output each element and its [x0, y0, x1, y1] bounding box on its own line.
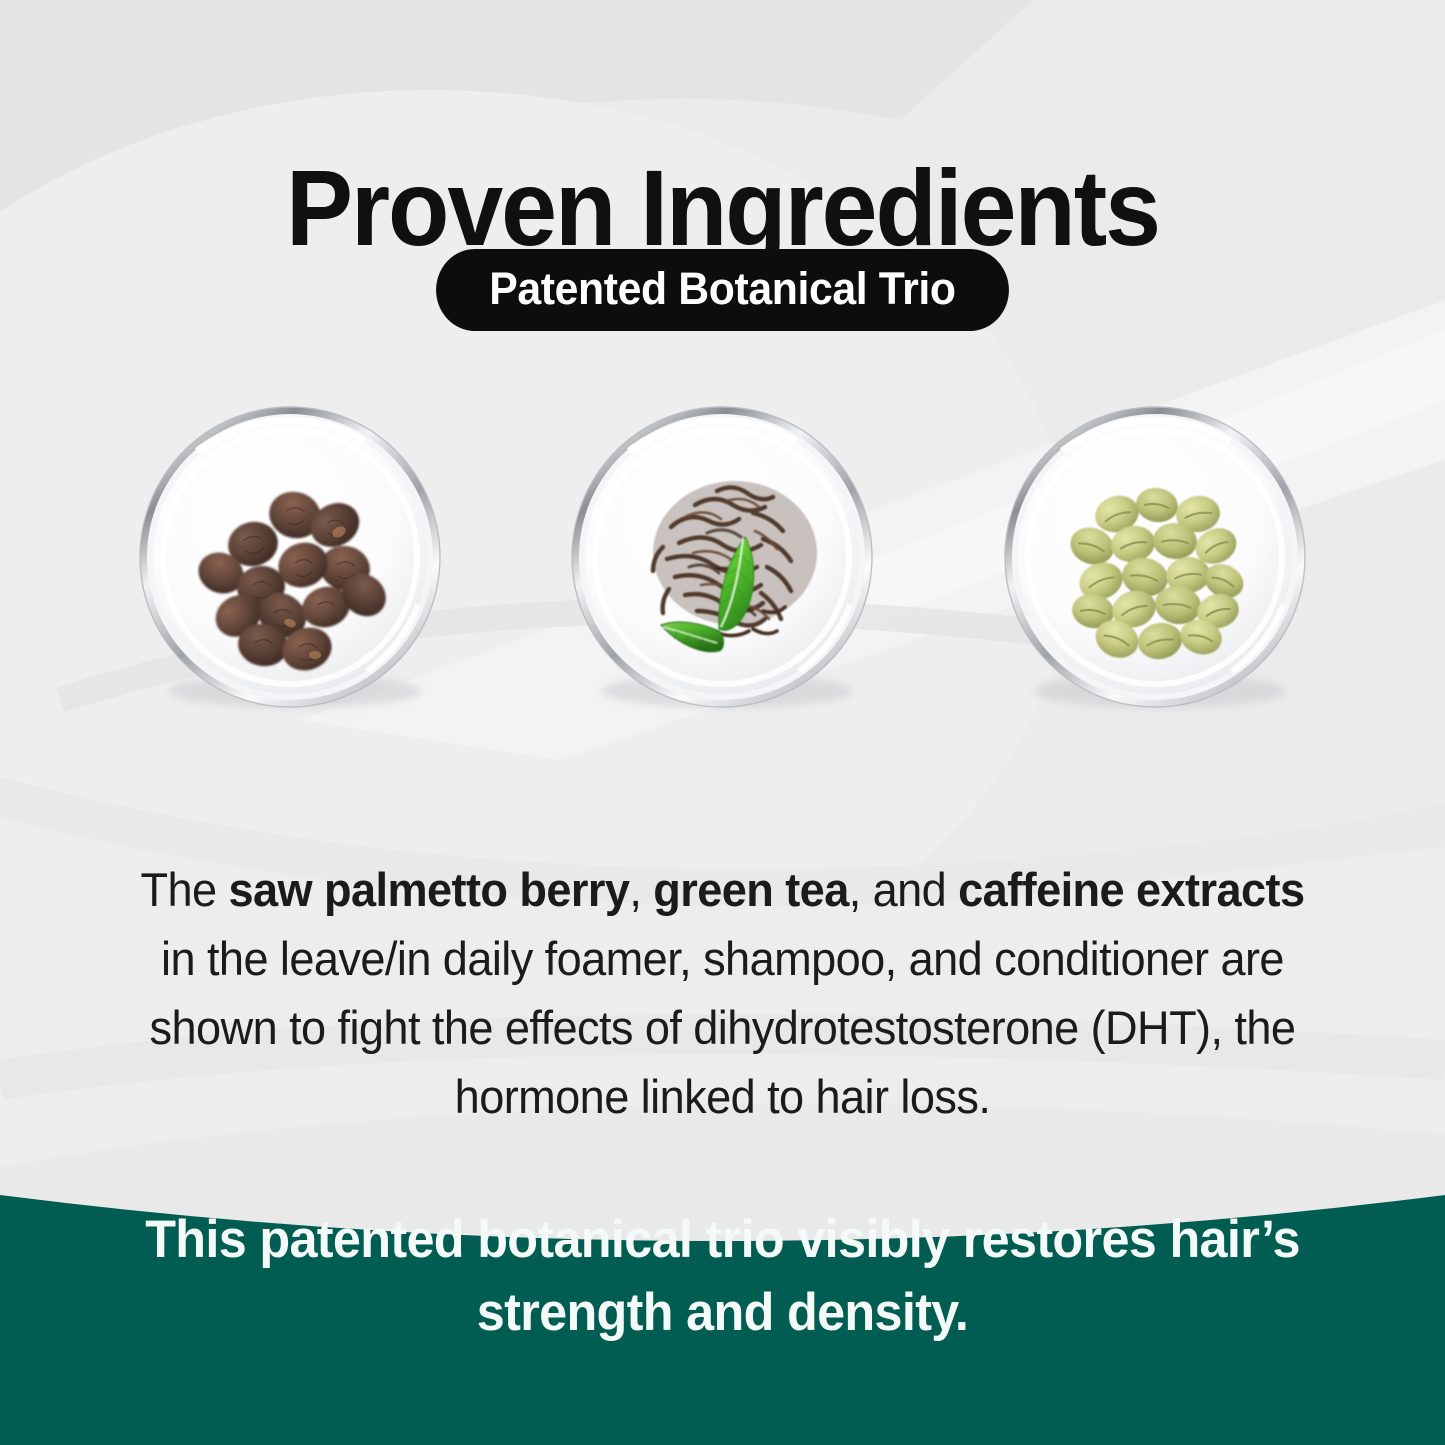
ingredient-dishes-row	[0, 405, 1445, 735]
status-badge: Patented Botanical Trio	[436, 249, 1009, 331]
ingredients-infographic: Proven Ingredients Patented Botanical Tr…	[0, 0, 1445, 1445]
badge-container: Patented Botanical Trio	[0, 249, 1445, 331]
bold-saw-palmetto: saw palmetto berry	[228, 863, 629, 916]
dish-saw-palmetto-berries	[135, 405, 445, 715]
green-tea-dish-icon	[567, 405, 877, 715]
dish-green-coffee-beans	[1000, 405, 1310, 715]
bold-green-tea: green tea	[653, 863, 848, 916]
green-coffee-dish-icon	[1000, 405, 1310, 715]
saw-palmetto-dish-icon	[135, 405, 445, 715]
para-prefix: The	[140, 863, 228, 916]
ingredient-description: The saw palmetto berry, green tea, and c…	[120, 855, 1325, 1131]
para-sep-1: ,	[629, 863, 653, 916]
page-title: Proven Ingredients	[51, 154, 1395, 262]
banner-headline: This patented botanical trio visibly res…	[122, 1203, 1324, 1349]
dish-green-tea	[567, 405, 877, 715]
bold-caffeine-extracts: caffeine extracts	[958, 863, 1304, 916]
bottom-banner: This patented botanical trio visibly res…	[0, 1155, 1445, 1445]
para-sep-2: , and	[849, 863, 958, 916]
para-tail: in the leave/in daily foamer, shampoo, a…	[150, 932, 1296, 1123]
